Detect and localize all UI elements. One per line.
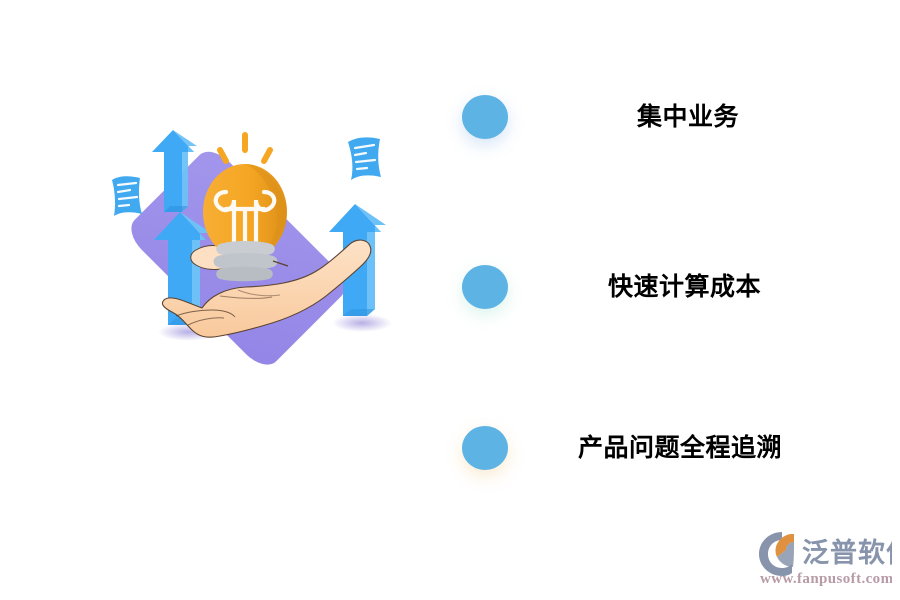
bullet-dot-icon [462,265,508,309]
feature-list: 集中业务 快速计算成本 产品问题全程追溯 [440,70,880,510]
bullet-dot-icon [462,426,508,470]
watermark-logo: 泛普软件 www.fanpusoft.com [756,526,892,588]
light-rays-icon [220,135,270,161]
hand-holding-lightbulb-illustration [60,120,470,410]
feature-item-0[interactable]: 集中业务 [440,87,739,147]
document-sheet-right-icon [348,137,381,180]
feature-label-0: 集中业务 [637,105,739,130]
lightbulb-icon [203,164,288,281]
bullet-dot-icon [462,95,508,139]
watermark-brand-text: 泛普软件 [802,537,892,568]
feature-item-2[interactable]: 产品问题全程追溯 [440,418,782,478]
slide-canvas: 集中业务 快速计算成本 产品问题全程追溯 泛普软件 www.fanpusoft.… [0,0,900,600]
feature-label-2: 产品问题全程追溯 [578,436,782,461]
watermark-url-text: www.fanpusoft.com [760,571,892,587]
fanpu-swirl-logo-icon [759,532,794,576]
document-sheet-left-icon [112,176,142,216]
feature-label-1: 快速计算成本 [608,275,761,300]
feature-item-1[interactable]: 快速计算成本 [440,257,761,317]
